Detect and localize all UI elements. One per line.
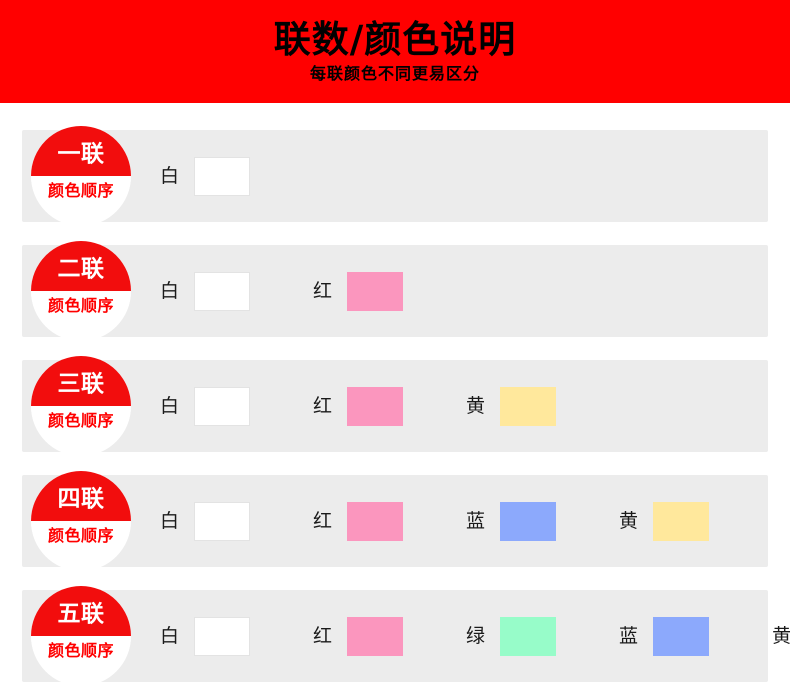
color-swatch-chip <box>500 617 556 656</box>
ply-count-badge: 三联颜色顺序 <box>31 356 131 456</box>
color-swatch-label: 红 <box>313 397 332 416</box>
legend-row: 一联颜色顺序白 <box>0 130 790 222</box>
color-swatch-item: 黄 <box>619 502 709 541</box>
color-swatch-list: 白红蓝黄 <box>160 475 709 567</box>
ply-count-label: 四联 <box>58 488 105 511</box>
ply-count-badge-bottom: 颜色顺序 <box>31 291 131 341</box>
color-swatch-item: 红 <box>313 502 403 541</box>
color-swatch-label: 黄 <box>466 397 485 416</box>
color-swatch-chip <box>194 157 250 196</box>
color-swatch-label: 红 <box>313 512 332 531</box>
color-order-caption: 颜色顺序 <box>48 183 114 199</box>
page-subtitle: 每联颜色不同更易区分 <box>310 66 480 82</box>
color-swatch-item: 蓝 <box>619 617 709 656</box>
color-swatch-label: 白 <box>160 397 179 416</box>
ply-count-badge-top: 五联 <box>31 586 131 636</box>
color-order-caption: 颜色顺序 <box>48 528 114 544</box>
color-swatch-label: 红 <box>313 627 332 646</box>
ply-count-badge: 五联颜色顺序 <box>31 586 131 686</box>
color-swatch-chip <box>194 617 250 656</box>
ply-count-badge-bottom: 颜色顺序 <box>31 521 131 571</box>
color-order-caption: 颜色顺序 <box>48 643 114 659</box>
legend-row-list: 一联颜色顺序白二联颜色顺序白红三联颜色顺序白红黄四联颜色顺序白红蓝黄五联颜色顺序… <box>0 103 790 682</box>
color-swatch-item: 黄 <box>466 387 556 426</box>
color-swatch-item: 黄 <box>772 617 790 656</box>
color-swatch-list: 白红黄 <box>160 360 556 452</box>
color-order-caption: 颜色顺序 <box>48 298 114 314</box>
color-swatch-list: 白红绿蓝黄 <box>160 590 790 682</box>
color-swatch-label: 红 <box>313 282 332 301</box>
ply-count-badge-top: 三联 <box>31 356 131 406</box>
color-swatch-label: 黄 <box>772 627 790 646</box>
color-swatch-list: 白红 <box>160 245 403 337</box>
color-swatch-item: 红 <box>313 617 403 656</box>
color-swatch-item: 白 <box>160 617 250 656</box>
color-swatch-label: 绿 <box>466 627 485 646</box>
color-swatch-item: 白 <box>160 157 250 196</box>
color-swatch-chip <box>194 502 250 541</box>
ply-count-badge: 一联颜色顺序 <box>31 126 131 226</box>
color-swatch-item: 白 <box>160 502 250 541</box>
color-swatch-chip <box>500 387 556 426</box>
color-swatch-chip <box>347 272 403 311</box>
color-swatch-chip <box>653 617 709 656</box>
legend-row: 二联颜色顺序白红 <box>0 245 790 337</box>
color-swatch-item: 蓝 <box>466 502 556 541</box>
color-swatch-label: 黄 <box>619 512 638 531</box>
color-swatch-label: 蓝 <box>619 627 638 646</box>
page-title: 联数/颜色说明 <box>274 21 517 60</box>
ply-count-badge-bottom: 颜色顺序 <box>31 636 131 686</box>
color-swatch-label: 蓝 <box>466 512 485 531</box>
color-swatch-chip <box>500 502 556 541</box>
color-swatch-item: 红 <box>313 387 403 426</box>
legend-row: 五联颜色顺序白红绿蓝黄 <box>0 590 790 682</box>
color-swatch-label: 白 <box>160 167 179 186</box>
color-swatch-label: 白 <box>160 627 179 646</box>
legend-row-band <box>22 130 768 222</box>
color-swatch-label: 白 <box>160 512 179 531</box>
color-swatch-chip <box>347 387 403 426</box>
color-swatch-label: 白 <box>160 282 179 301</box>
ply-count-badge-bottom: 颜色顺序 <box>31 176 131 226</box>
ply-count-badge-top: 四联 <box>31 471 131 521</box>
color-swatch-list: 白 <box>160 130 250 222</box>
color-order-caption: 颜色顺序 <box>48 413 114 429</box>
page-header-banner: 联数/颜色说明 每联颜色不同更易区分 <box>0 0 790 103</box>
legend-row: 三联颜色顺序白红黄 <box>0 360 790 452</box>
color-swatch-item: 白 <box>160 387 250 426</box>
ply-count-label: 二联 <box>58 258 105 281</box>
ply-count-badge: 四联颜色顺序 <box>31 471 131 571</box>
ply-count-badge-top: 二联 <box>31 241 131 291</box>
ply-count-label: 三联 <box>58 373 105 396</box>
legend-row: 四联颜色顺序白红蓝黄 <box>0 475 790 567</box>
color-swatch-item: 绿 <box>466 617 556 656</box>
ply-count-badge: 二联颜色顺序 <box>31 241 131 341</box>
color-swatch-chip <box>194 272 250 311</box>
ply-count-label: 五联 <box>58 603 105 626</box>
color-swatch-chip <box>347 502 403 541</box>
ply-count-badge-top: 一联 <box>31 126 131 176</box>
color-swatch-chip <box>347 617 403 656</box>
ply-count-badge-bottom: 颜色顺序 <box>31 406 131 456</box>
color-swatch-chip <box>653 502 709 541</box>
color-swatch-chip <box>194 387 250 426</box>
color-swatch-item: 白 <box>160 272 250 311</box>
color-swatch-item: 红 <box>313 272 403 311</box>
ply-count-label: 一联 <box>58 143 105 166</box>
